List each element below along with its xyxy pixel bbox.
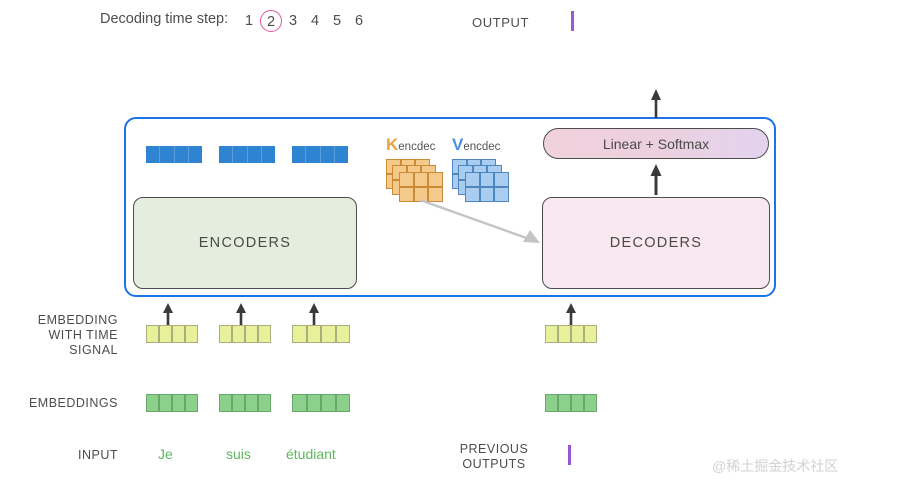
time-signal-vector-decoder — [545, 325, 597, 343]
decoding-timestep-label: Decoding time step: — [100, 11, 228, 27]
output-label: OUTPUT — [472, 15, 529, 30]
input-word-1: Je — [158, 446, 173, 462]
decoder-to-linear-arrow — [649, 163, 663, 195]
output-token-cursor — [571, 11, 574, 31]
encoder-output-vector-2 — [219, 146, 275, 163]
v-encdec-label: Vencdec — [452, 135, 510, 155]
k-encdec-label: Kencdec — [386, 135, 444, 155]
time-signal-vector-2 — [219, 325, 271, 343]
encoder-output-vector-1 — [146, 146, 202, 163]
embedding-vector-2 — [219, 394, 271, 412]
embedding-with-time-signal-label: EMBEDDING WITH TIME SIGNAL — [0, 313, 118, 358]
v-letter: V — [452, 135, 463, 154]
model-output-arrow — [649, 88, 663, 118]
v-subscript: encdec — [463, 141, 500, 153]
watermark: @稀土掘金技术社区 — [712, 456, 838, 476]
previous-output-token-cursor — [568, 445, 571, 465]
timestep-option-2[interactable]: 2 — [260, 10, 282, 32]
v-encdec-matrix: Vencdec — [452, 135, 510, 205]
embeddings-label: EMBEDDINGS — [0, 396, 118, 411]
time-signal-vector-1 — [146, 325, 198, 343]
timestep-option-3[interactable]: 3 — [282, 10, 304, 32]
input-word-3: étudiant — [286, 446, 336, 462]
timestep-option-4[interactable]: 4 — [304, 10, 326, 32]
embedding-vector-3 — [292, 394, 350, 412]
k-letter: K — [386, 135, 398, 154]
encoder-output-vector-3 — [292, 146, 348, 163]
decoders-block[interactable]: DECODERS — [542, 197, 770, 289]
timestep-option-6[interactable]: 6 — [348, 10, 370, 32]
embedding-vector-1 — [146, 394, 198, 412]
embedding-time-line-3: SIGNAL — [0, 343, 118, 358]
k-subscript: encdec — [398, 141, 435, 153]
previous-outputs-line-1: PREVIOUS — [440, 442, 548, 457]
kv-to-decoder-arrow — [418, 196, 546, 248]
embedding-time-line-2: WITH TIME — [0, 328, 118, 343]
decoding-timestep-steps: 1 2 3 4 5 6 — [238, 10, 370, 32]
previous-outputs-line-2: OUTPUTS — [440, 457, 548, 472]
linear-softmax-block[interactable]: Linear + Softmax — [543, 128, 769, 159]
previous-outputs-label: PREVIOUS OUTPUTS — [440, 442, 548, 472]
k-encdec-matrix: Kencdec — [386, 135, 444, 205]
timestep-option-1[interactable]: 1 — [238, 10, 260, 32]
timestep-option-5[interactable]: 5 — [326, 10, 348, 32]
time-signal-vector-3 — [292, 325, 350, 343]
embedding-time-line-1: EMBEDDING — [0, 313, 118, 328]
embedding-vector-decoder — [545, 394, 597, 412]
encoders-block[interactable]: ENCODERS — [133, 197, 357, 289]
input-label: INPUT — [0, 448, 118, 463]
input-word-2: suis — [226, 446, 251, 462]
